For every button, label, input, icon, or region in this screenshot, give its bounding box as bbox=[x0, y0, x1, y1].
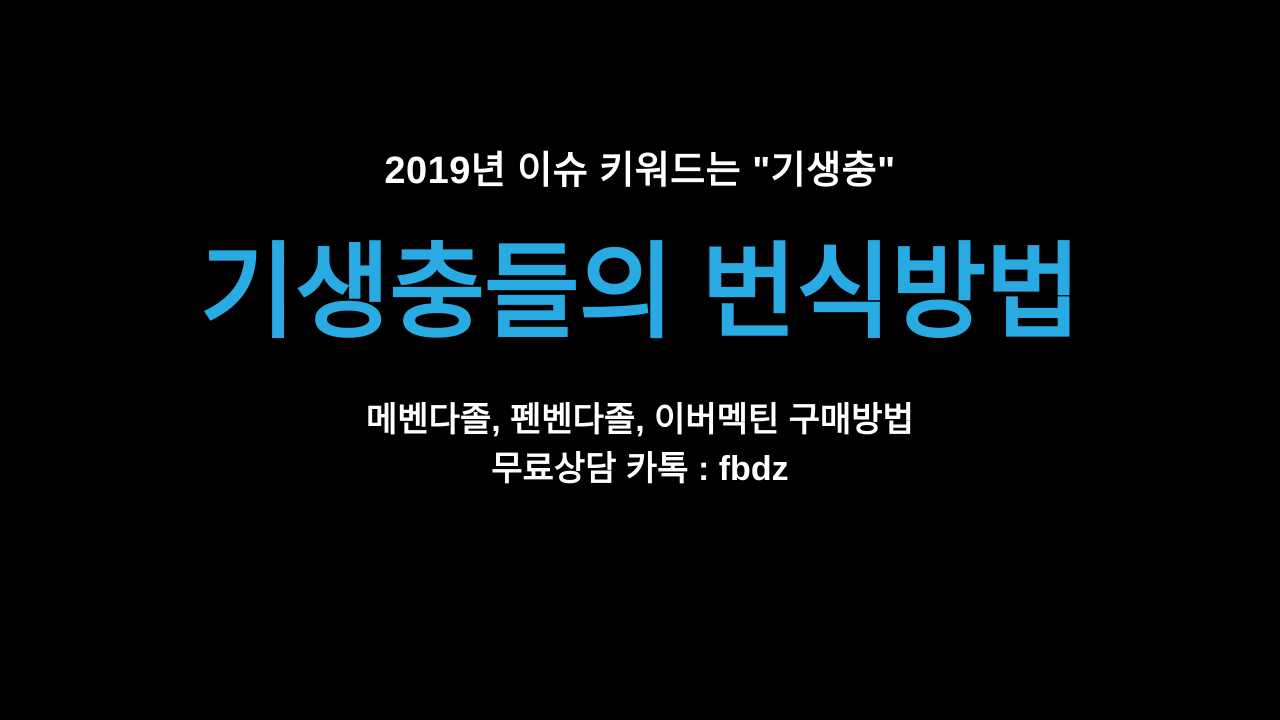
subtitle-line-products: 메벤다졸, 펜벤다졸, 이버멕틴 구매방법 bbox=[366, 396, 914, 445]
subtitle-block: 메벤다졸, 펜벤다졸, 이버멕틴 구매방법 무료상담 카톡 : fbdz bbox=[366, 396, 914, 495]
video-title-card: 2019년 이슈 키워드는 "기생충" 기생충들의 번식방법 메벤다졸, 펜벤다… bbox=[0, 0, 1280, 720]
subtitle-line-contact: 무료상담 카톡 : fbdz bbox=[491, 445, 788, 494]
title-content-stack: 2019년 이슈 키워드는 "기생충" 기생충들의 번식방법 메벤다졸, 펜벤다… bbox=[0, 0, 1280, 720]
headline-text: 2019년 이슈 키워드는 "기생충" bbox=[384, 148, 895, 196]
page-title: 기생충들의 번식방법 bbox=[200, 240, 1080, 346]
